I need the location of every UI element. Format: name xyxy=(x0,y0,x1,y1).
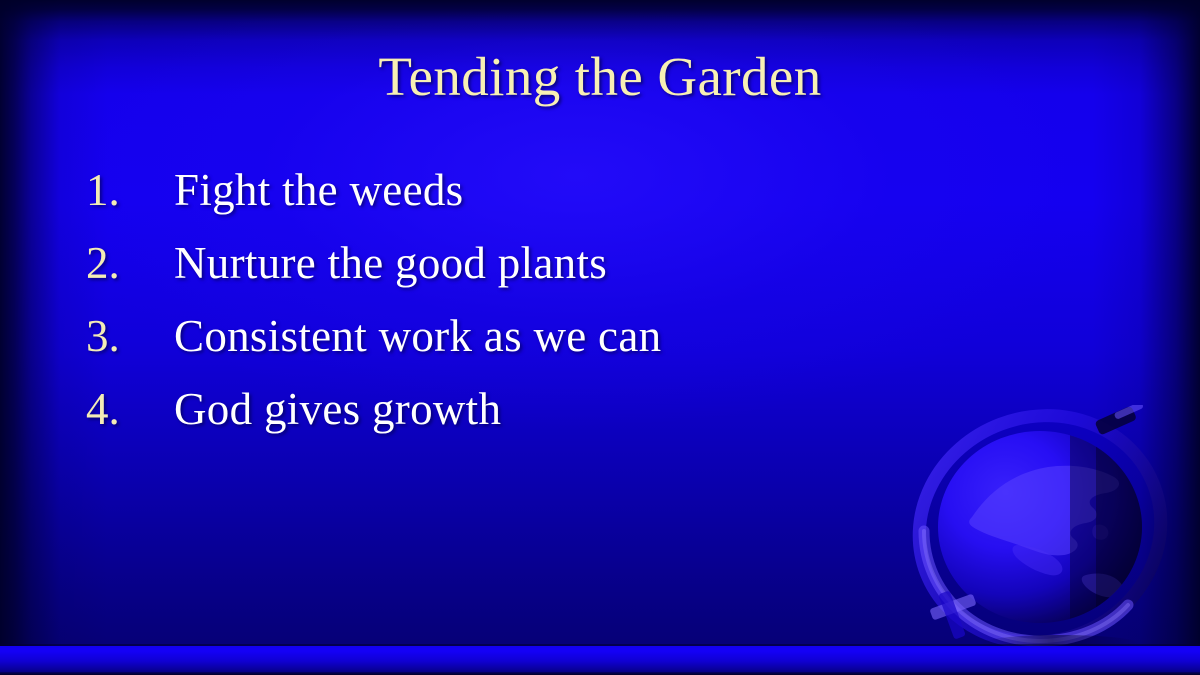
list-item: 3. Consistent work as we can xyxy=(86,314,1086,387)
list-item-number: 2. xyxy=(86,241,174,286)
presentation-slide: Tending the Garden 1. Fight the weeds 2.… xyxy=(0,0,1200,675)
list-item-text: Nurture the good plants xyxy=(174,241,607,286)
list-item-number: 3. xyxy=(86,314,174,359)
list-item-text: Fight the weeds xyxy=(174,168,463,213)
slide-body-list: 1. Fight the weeds 2. Nurture the good p… xyxy=(86,168,1086,460)
list-item-number: 4. xyxy=(86,387,174,432)
list-item-number: 1. xyxy=(86,168,174,213)
list-item: 2. Nurture the good plants xyxy=(86,241,1086,314)
list-item-text: Consistent work as we can xyxy=(174,314,661,359)
slide-title: Tending the Garden xyxy=(0,48,1200,106)
list-item: 4. God gives growth xyxy=(86,387,1086,460)
bottom-band xyxy=(0,646,1200,675)
list-item-text: God gives growth xyxy=(174,387,501,432)
list-item: 1. Fight the weeds xyxy=(86,168,1086,241)
